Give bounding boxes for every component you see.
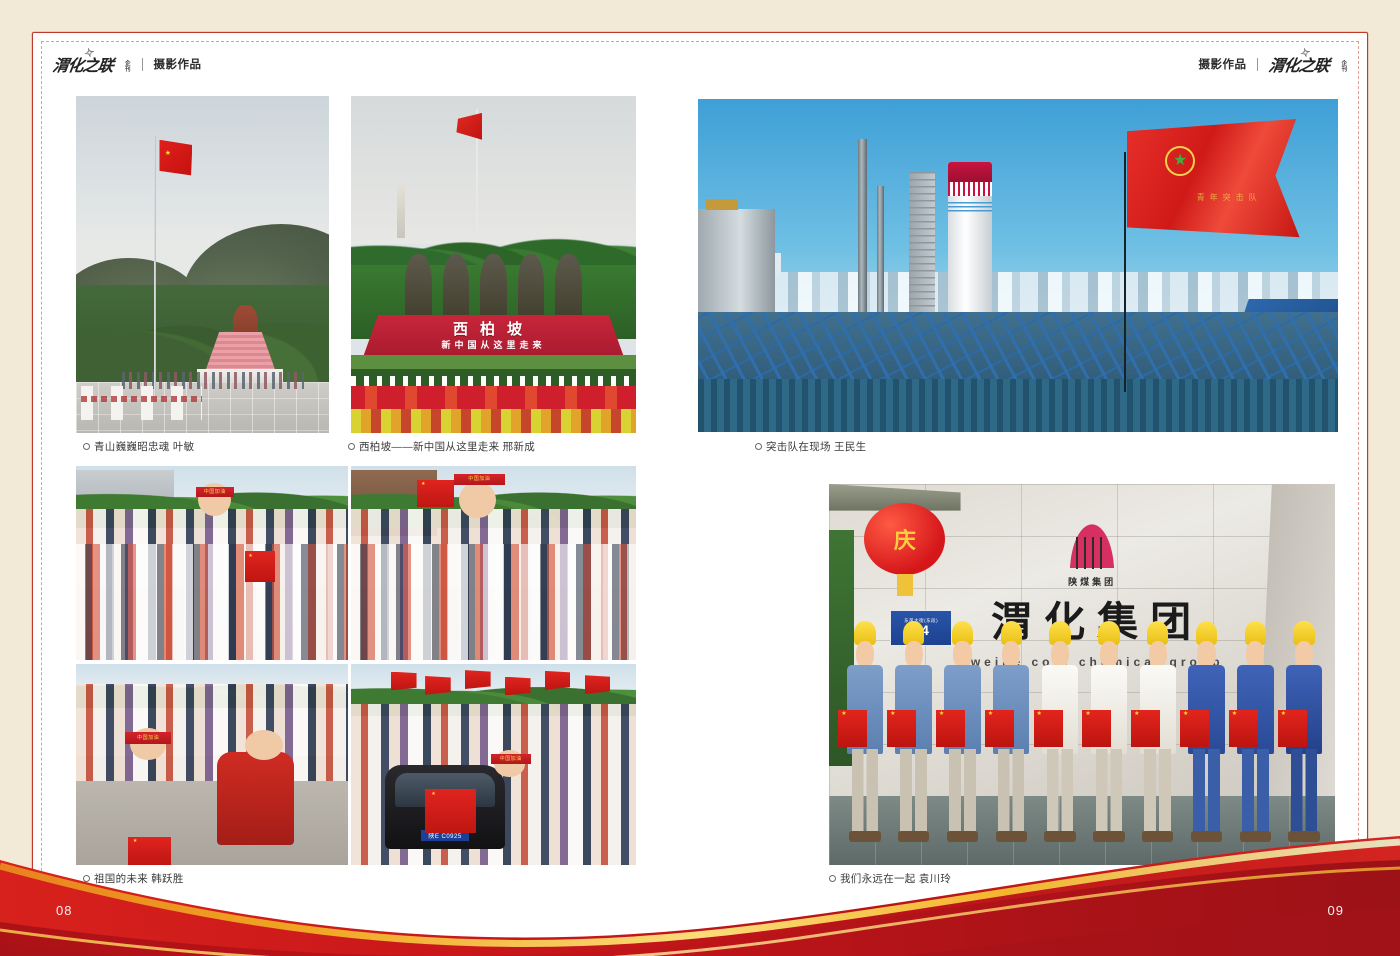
photo3-youth-league-emblem-icon: ★: [1165, 146, 1195, 176]
masthead-swash-right: ✧: [1300, 45, 1312, 62]
section-label-left: 摄影作品: [154, 56, 202, 72]
photo5-lantern-char: 庆: [894, 523, 916, 555]
photo4a-scene: 中国加油: [76, 466, 348, 660]
photo4c-girl-headband: 中国加油: [125, 732, 171, 744]
photo3-distillation-column-1: [858, 139, 867, 332]
header-divider-left: [142, 58, 143, 71]
photo4b-child-hat: 中国加油: [454, 474, 505, 486]
photo4a-child-headband: 中国加油: [196, 487, 234, 497]
photo3-tower-red-cap: [948, 162, 993, 182]
caption-monument-plaza: 青山巍巍昭忠魂 叶敏: [83, 439, 194, 454]
photo2-flowerbed: 西柏坡 新中国从这里走来: [362, 315, 624, 359]
photo-xibaipo-memorial[interactable]: 西柏坡 新中国从这里走来: [351, 96, 636, 433]
bottom-wave-ribbon: [0, 826, 1400, 956]
caption-bullet-icon: [348, 443, 355, 450]
photo2-mixed-flowers: [351, 409, 636, 433]
worker: [893, 621, 934, 842]
worker: [1235, 621, 1276, 842]
photo4b-hat-flag: [417, 480, 454, 507]
masthead-logo-right: 渭化之联 ✧: [1268, 52, 1331, 76]
photo3-flag-text: 青年突击队: [1159, 192, 1300, 203]
photo4b-scene: 中国加油: [351, 466, 636, 660]
photo3-tower-blue-band: [948, 202, 993, 212]
photo3-flagpole: [1124, 152, 1126, 392]
photo3-youth-league-flag: [1127, 119, 1300, 242]
photo3-distillation-column-2: [877, 186, 884, 333]
running-head-left: 渭化之联 ✧ 企 刊 摄影作品: [53, 51, 202, 77]
photo4d-parade-flags: [351, 668, 636, 704]
worker: [844, 621, 885, 842]
masthead-sub-left: 企 刊: [125, 61, 131, 73]
running-head-right: 摄影作品 渭化之联 ✧ 企 刊: [1198, 51, 1347, 77]
page-sheet: 渭化之联 ✧ 企 刊 摄影作品 摄影作品 渭化之联 ✧ 企 刊: [32, 32, 1368, 956]
masthead-text-left: 渭化之联: [51, 58, 113, 75]
caption-text: 青山巍巍昭忠魂 叶敏: [94, 439, 194, 454]
photo4a-hand-flag: [245, 551, 275, 582]
photo1-china-flag: ★: [159, 140, 192, 177]
section-label-right: 摄影作品: [1198, 56, 1246, 72]
masthead-swash-left: ✧: [83, 45, 95, 62]
photo5-company-logo-icon: [1067, 518, 1118, 568]
worker: [1283, 621, 1324, 842]
photo3-tower-stripes: [948, 182, 993, 195]
photo1-flagpole: [154, 136, 156, 399]
photo5-worker-lineup: [844, 621, 1325, 842]
worker: [1137, 621, 1178, 842]
photo4d-girl-headband: 中国加油: [491, 754, 531, 764]
worker: [991, 621, 1032, 842]
photo3-steel-frame: [909, 172, 935, 332]
worker: [942, 621, 983, 842]
masthead-logo-left: 渭化之联 ✧: [51, 52, 114, 76]
photo1-stone-fence: [81, 386, 202, 420]
photo5-parent-company-name: 陕煤集团: [1042, 575, 1143, 588]
photo-crowd-boy-with-bottle[interactable]: 中国加油: [351, 466, 636, 660]
photo-crowd-boy-on-shoulders[interactable]: 中国加油: [76, 466, 348, 660]
masthead-sub-line2-left: 刊: [125, 67, 131, 73]
photo2-flowerbed-subtitle: 新中国从这里走来: [362, 338, 624, 351]
page-number-right: 09: [1328, 903, 1344, 918]
page-number-left: 08: [56, 903, 72, 918]
photo-monument-plaza[interactable]: ★: [76, 96, 329, 433]
photo4c-crowd: [76, 684, 348, 780]
photo1-rope-barrier: [81, 396, 202, 402]
worker: [1088, 621, 1129, 842]
caption-xibaipo-memorial: 西柏坡——新中国从这里走来 邢新成: [348, 439, 535, 454]
photo4a-crowd-front: [76, 544, 348, 660]
photo3-foreground-deck: [698, 379, 1338, 432]
worker: [1186, 621, 1227, 842]
caption-bullet-icon: [755, 443, 762, 450]
photo-chemical-plant[interactable]: ★ 青年突击队: [698, 99, 1338, 432]
masthead-sub-line2-right: 刊: [1341, 67, 1347, 73]
photo2-flowerbed-title: 西柏坡: [362, 318, 624, 339]
caption-text: 突击队在现场 王民生: [766, 439, 866, 454]
header-divider-right: [1257, 58, 1258, 71]
magazine-spread: 渭化之联 ✧ 企 刊 摄影作品 摄影作品 渭化之联 ✧ 企 刊: [0, 0, 1400, 956]
caption-text: 西柏坡——新中国从这里走来 邢新成: [359, 439, 535, 454]
photo3-concrete-silo: [698, 209, 775, 322]
caption-bullet-icon: [83, 443, 90, 450]
photo4b-crowd-front: [351, 544, 636, 660]
photo4c-man-head: [245, 730, 283, 760]
photo2-bronze-statues: [405, 251, 582, 318]
photo-weihe-group-gate[interactable]: 庆 陕煤集团 东风大街(东段) 34 渭化集团 weihe coal chemi…: [829, 484, 1335, 865]
caption-chemical-plant: 突击队在现场 王民生: [755, 439, 866, 454]
worker: [1039, 621, 1080, 842]
masthead-sub-right: 企 刊: [1341, 61, 1347, 73]
masthead-text-right: 渭化之联: [1268, 58, 1330, 75]
